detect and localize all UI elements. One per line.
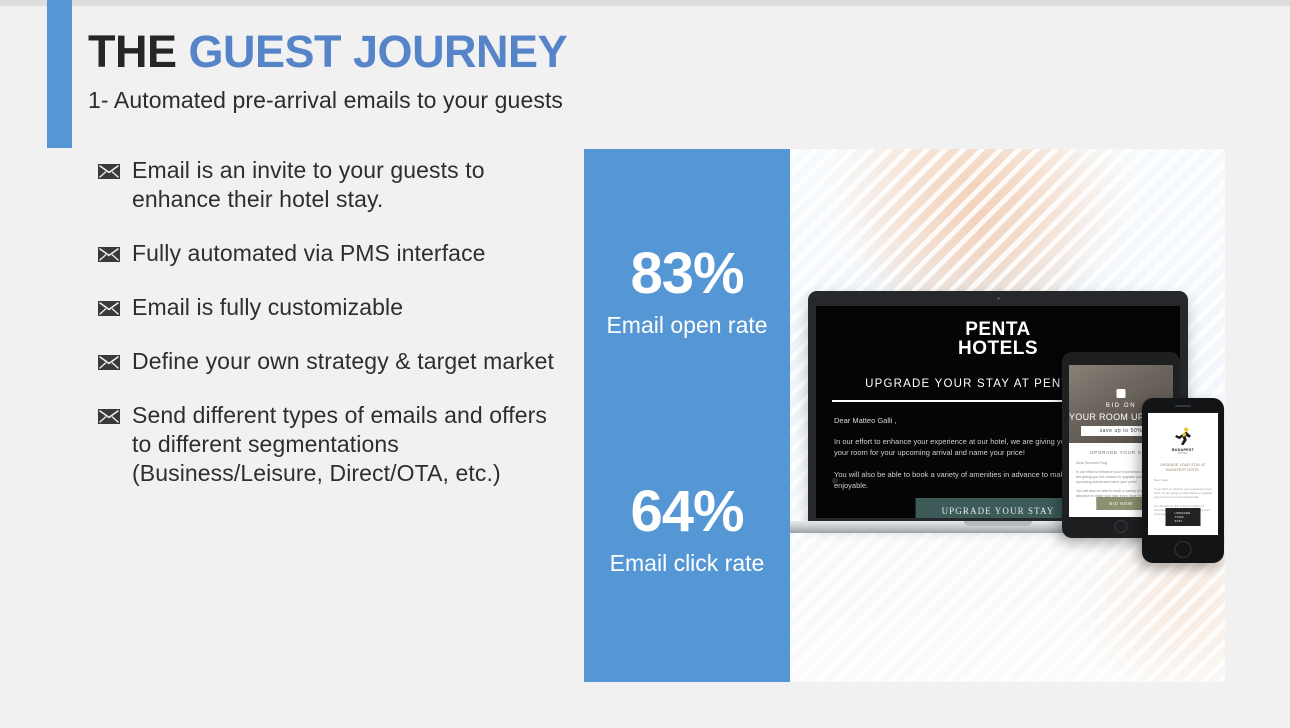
tablet-home-button[interactable]: [1115, 520, 1128, 533]
phone-upgrade-button[interactable]: UPGRADE YOUR STAY: [1166, 508, 1201, 526]
list-item: Email is an invite to your guests to enh…: [98, 156, 568, 214]
bid-now-button[interactable]: BID NOW: [1096, 497, 1145, 510]
phone-email-headline: UPGRADE YOUR STAY AT BUDAPEST HOTEL: [1153, 463, 1213, 473]
webcam-icon: [997, 297, 1000, 300]
list-item: Send different types of emails and offer…: [98, 401, 568, 488]
list-item: Email is fully customizable: [98, 293, 568, 322]
envelope-icon: [98, 247, 120, 262]
envelope-icon: [98, 301, 120, 316]
stats-and-mockup-panel: 83% Email open rate 64% Email click rate…: [584, 149, 1225, 682]
phone-screen: BUDAPEST HOTEL UPGRADE YOUR STAY AT BUDA…: [1148, 413, 1218, 535]
list-item-label: Define your own strategy & target market: [132, 347, 554, 376]
feature-bullet-list: Email is an invite to your guests to enh…: [98, 156, 568, 488]
envelope-icon: [98, 355, 120, 370]
list-item: Define your own strategy & target market: [98, 347, 568, 376]
stat-email-open-rate: 83% Email open rate: [584, 245, 790, 340]
running-man-icon: [1173, 426, 1193, 446]
phone-home-button[interactable]: [1175, 541, 1192, 558]
page-title: THE GUEST JOURNEY: [88, 28, 788, 75]
list-item-label: Email is an invite to your guests to enh…: [132, 156, 568, 214]
list-item-label: Email is fully customizable: [132, 293, 403, 322]
envelope-icon: [98, 164, 120, 179]
phone-greeting: Dear Guest: [1154, 478, 1212, 482]
decorative-dot: [832, 478, 838, 484]
list-item-label: Fully automated via PMS interface: [132, 239, 486, 268]
top-edge-strip: [0, 0, 1290, 6]
page-subtitle: 1- Automated pre-arrival emails to your …: [88, 87, 788, 114]
stat-value: 64%: [584, 483, 790, 541]
header-accent-bar: [47, 0, 72, 148]
stat-email-click-rate: 64% Email click rate: [584, 483, 790, 578]
page-title-part-2: GUEST JOURNEY: [189, 26, 568, 77]
logo-line-1: PENTA: [965, 319, 1030, 340]
upgrade-your-stay-button[interactable]: UPGRADE YOUR STAY: [916, 498, 1081, 518]
logo-subtitle: HOTEL: [1170, 452, 1196, 455]
page-title-part-1: THE: [88, 26, 189, 77]
budapest-hotel-logo: BUDAPEST HOTEL: [1170, 426, 1196, 455]
list-item-label: Send different types of emails and offer…: [132, 401, 568, 488]
stat-label: Email open rate: [584, 311, 790, 340]
earpiece-speaker-icon: [1175, 405, 1191, 407]
stat-value: 83%: [584, 245, 790, 303]
stats-panel: 83% Email open rate 64% Email click rate: [584, 149, 790, 682]
stat-label: Email click rate: [584, 549, 790, 578]
phone-paragraph-1: In our effort to enhance your experience…: [1154, 487, 1212, 499]
list-item: Fully automated via PMS interface: [98, 239, 568, 268]
envelope-icon: [98, 409, 120, 424]
laptop-notch: [964, 521, 1032, 526]
slide-canvas: THE GUEST JOURNEY 1- Automated pre-arriv…: [0, 0, 1290, 728]
phone-device-mockup: BUDAPEST HOTEL UPGRADE YOUR STAY AT BUDA…: [1142, 398, 1224, 563]
header: THE GUEST JOURNEY 1- Automated pre-arriv…: [88, 28, 788, 114]
key-badge-icon: [1117, 389, 1126, 398]
